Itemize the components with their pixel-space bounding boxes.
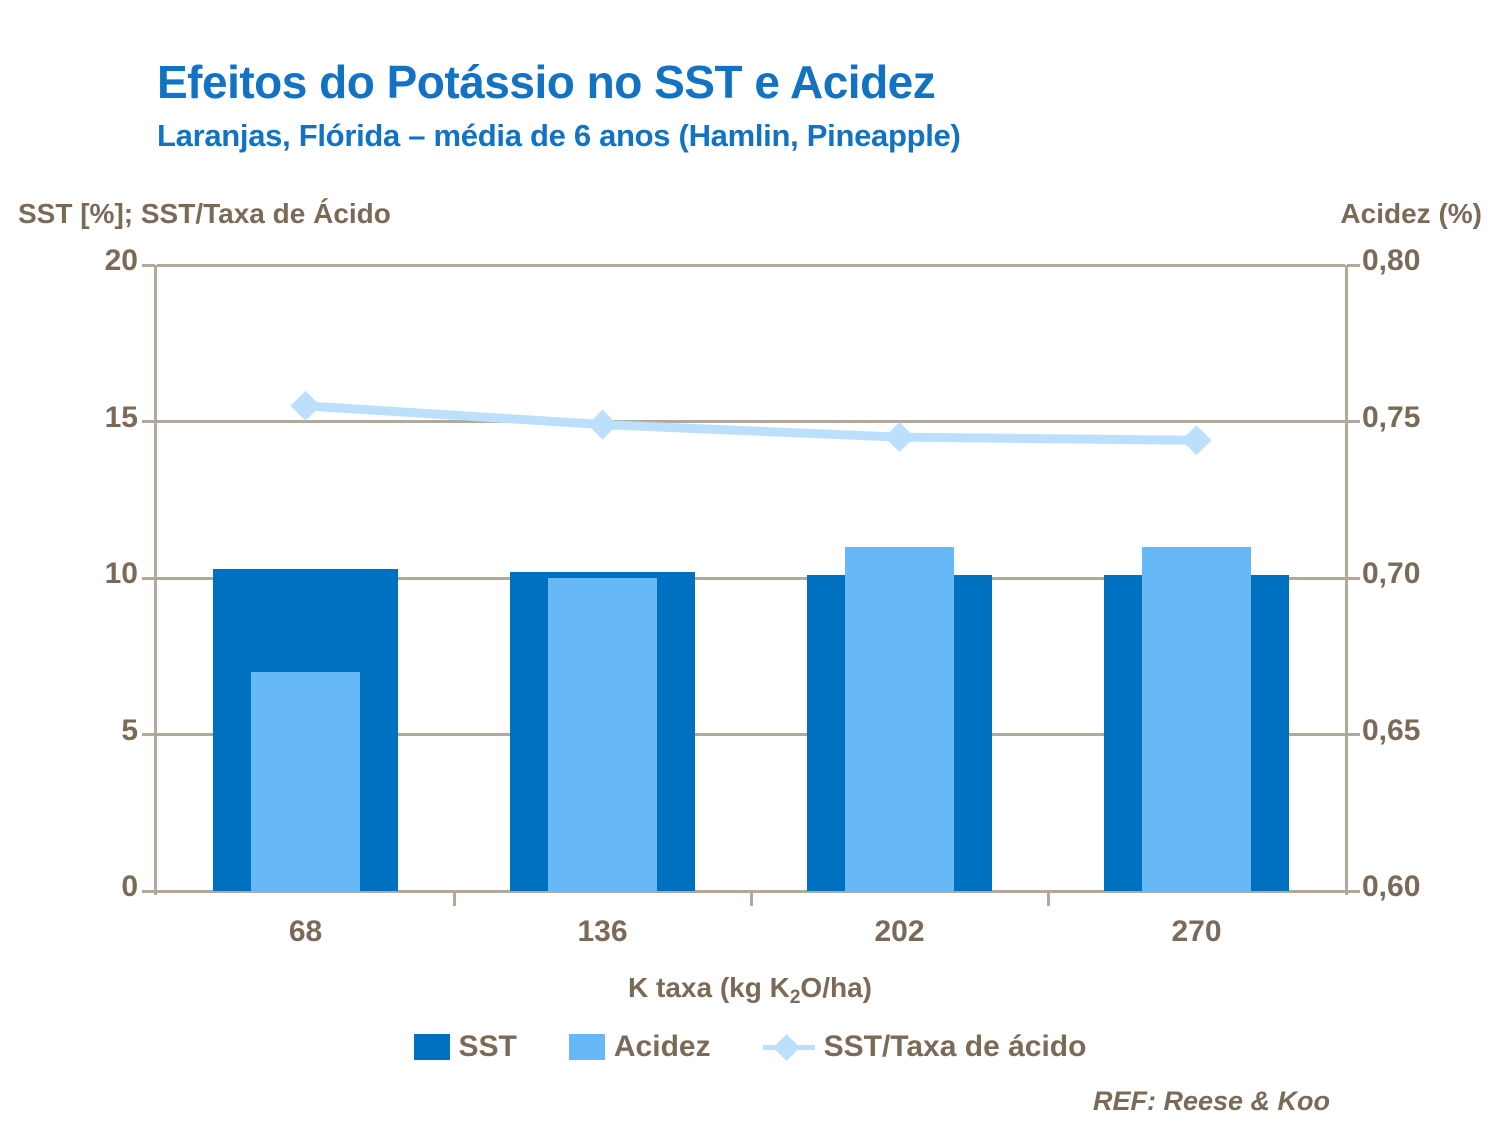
left-axis-line (154, 265, 157, 895)
ratio-line-marker[interactable] (1182, 425, 1212, 455)
legend-item-sst[interactable]: SST (414, 1030, 517, 1064)
legend-swatch-icon (569, 1034, 605, 1060)
left-tick-label: 10 (105, 557, 138, 591)
legend-swatch-icon (414, 1034, 450, 1060)
bar-acidez[interactable] (251, 672, 361, 891)
plot-area (157, 265, 1345, 891)
left-tick-label: 15 (105, 401, 138, 435)
left-tick-mark (142, 890, 155, 893)
category-label: 136 (577, 915, 627, 949)
right-axis-title: Acidez (%) (1340, 198, 1482, 230)
x-axis-title: K taxa (kg K2O/ha) (0, 972, 1500, 1004)
left-tick-mark (142, 420, 155, 423)
x-axis-title-prefix: K taxa (kg K (628, 972, 790, 1003)
chart-canvas: Efeitos do Potássio no SST e Acidez Lara… (0, 0, 1500, 1127)
gridline (157, 420, 1345, 423)
category-label: 202 (874, 915, 924, 949)
left-tick-mark (142, 577, 155, 580)
left-tick-label: 20 (105, 244, 138, 278)
right-tick-label: 0,60 (1362, 870, 1420, 904)
right-axis-line (1345, 265, 1348, 895)
left-tick-label: 5 (121, 714, 138, 748)
legend-item-sst-taxa-de-acido[interactable]: SST/Taxa de ácido (763, 1030, 1087, 1064)
left-axis-title: SST [%]; SST/Taxa de Ácido (18, 198, 391, 230)
right-tick-mark (1347, 733, 1360, 736)
left-tick-label: 0 (121, 870, 138, 904)
ratio-line-marker[interactable] (588, 410, 618, 440)
legend-line-diamond-icon (763, 1034, 815, 1060)
chart-subtitle: Laranjas, Flórida – média de 6 anos (Ham… (157, 118, 961, 154)
category-label: 68 (289, 915, 322, 949)
legend-label: Acidez (614, 1030, 711, 1064)
legend-label: SST (459, 1030, 517, 1064)
reference-note: REF: Reese & Koo (1093, 1086, 1330, 1117)
x-tick-mark (453, 891, 456, 906)
bar-acidez[interactable] (845, 547, 955, 891)
right-tick-label: 0,70 (1362, 557, 1420, 591)
right-tick-mark (1347, 577, 1360, 580)
right-tick-label: 0,65 (1362, 714, 1420, 748)
category-label: 270 (1171, 915, 1221, 949)
left-tick-mark (142, 264, 155, 267)
x-tick-mark (750, 891, 753, 906)
bar-acidez[interactable] (1142, 547, 1252, 891)
left-tick-mark (142, 733, 155, 736)
right-tick-mark (1347, 890, 1360, 893)
x-axis-title-subscript: 2 (790, 987, 801, 1008)
right-tick-mark (1347, 420, 1360, 423)
right-tick-label: 0,75 (1362, 401, 1420, 435)
right-tick-mark (1347, 264, 1360, 267)
chart-legend: SST Acidez SST/Taxa de ácido (0, 1030, 1500, 1064)
right-tick-label: 0,80 (1362, 244, 1420, 278)
ratio-line-path (306, 406, 1197, 440)
x-tick-mark (1047, 891, 1050, 906)
bar-acidez[interactable] (548, 578, 658, 891)
legend-label: SST/Taxa de ácido (824, 1030, 1087, 1064)
chart-title: Efeitos do Potássio no SST e Acidez (157, 55, 935, 109)
ratio-line-marker[interactable] (291, 391, 321, 421)
gridline (157, 264, 1345, 267)
ratio-line-marker[interactable] (885, 422, 915, 452)
x-axis-title-suffix: O/ha) (800, 972, 872, 1003)
legend-item-acidez[interactable]: Acidez (569, 1030, 711, 1064)
